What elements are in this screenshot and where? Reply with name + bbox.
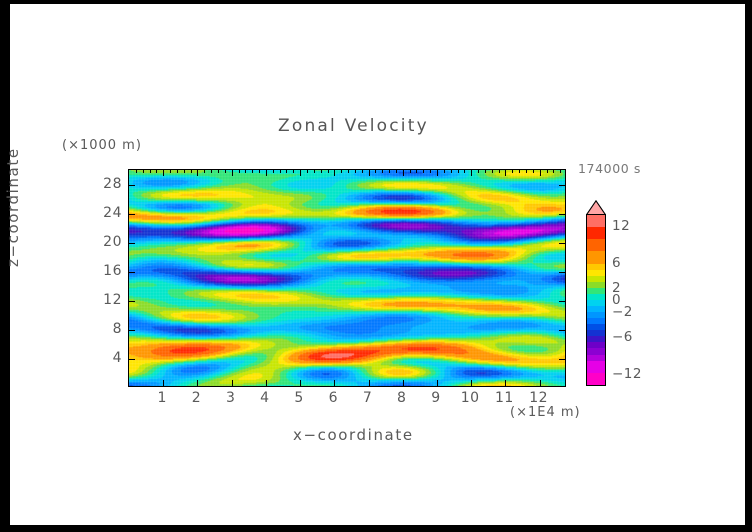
page-title: Zonal Velocity xyxy=(278,116,429,136)
x-tick-mark xyxy=(369,170,370,176)
x-minor-tick-mark xyxy=(280,170,281,173)
x-minor-tick-mark xyxy=(143,170,144,173)
image-border: Zonal Velocity (×1000 m) 174000 s 481216… xyxy=(0,0,752,532)
x-tick-mark xyxy=(300,380,301,386)
y-tick-mark xyxy=(129,214,135,215)
colorbar-tick-label: −12 xyxy=(612,366,642,382)
colorbar-band xyxy=(587,361,605,373)
x-tick-mark xyxy=(437,170,438,176)
colorbar-max-arrow-icon xyxy=(586,200,606,215)
y-tick-label: 20 xyxy=(103,234,122,250)
x-minor-tick-mark xyxy=(218,170,219,173)
colorbar-band xyxy=(587,251,605,263)
x-minor-tick-mark xyxy=(307,170,308,173)
x-tick-mark xyxy=(163,380,164,386)
x-minor-tick-mark xyxy=(225,170,226,173)
y-tick-mark xyxy=(129,272,135,273)
timestamp-label: 174000 s xyxy=(578,161,641,176)
x-minor-tick-mark xyxy=(170,170,171,173)
x-tick-mark xyxy=(232,170,233,176)
x-minor-tick-mark xyxy=(341,170,342,173)
x-tick-mark xyxy=(505,380,506,386)
x-tick-mark xyxy=(334,380,335,386)
x-minor-tick-mark xyxy=(396,170,397,173)
x-tick-label: 2 xyxy=(192,390,201,406)
x-tick-label: 9 xyxy=(431,390,440,406)
y-tick-label: 24 xyxy=(103,205,122,221)
colorbar-tick-label: 6 xyxy=(612,255,621,271)
x-tick-mark xyxy=(471,380,472,386)
y-tick-mark xyxy=(559,243,565,244)
y-tick-mark xyxy=(559,301,565,302)
x-minor-tick-mark xyxy=(512,170,513,173)
x-minor-tick-mark xyxy=(252,170,253,173)
x-tick-label: 11 xyxy=(495,390,514,406)
x-tick-label: 4 xyxy=(260,390,269,406)
x-axis-title: x−coordinate xyxy=(293,426,414,444)
colorbar-tick-label: −6 xyxy=(612,329,633,345)
x-minor-tick-mark xyxy=(204,170,205,173)
x-minor-tick-mark xyxy=(458,170,459,173)
x-minor-tick-mark xyxy=(499,170,500,173)
colorbar-tick-label: −2 xyxy=(612,304,633,320)
x-tick-mark xyxy=(197,380,198,386)
x-tick-mark xyxy=(540,170,541,176)
x-minor-tick-mark xyxy=(286,170,287,173)
x-tick-mark xyxy=(266,170,267,176)
y-tick-mark xyxy=(129,359,135,360)
x-tick-mark xyxy=(505,170,506,176)
x-minor-tick-mark xyxy=(478,170,479,173)
x-minor-tick-mark xyxy=(430,170,431,173)
colorbar xyxy=(586,214,606,386)
x-minor-tick-mark xyxy=(416,170,417,173)
y-tick-label: 8 xyxy=(113,321,122,337)
x-minor-tick-mark xyxy=(533,170,534,173)
x-tick-mark xyxy=(232,380,233,386)
x-minor-tick-mark xyxy=(273,170,274,173)
y-tick-mark xyxy=(559,214,565,215)
x-minor-tick-mark xyxy=(321,170,322,173)
y-axis-title: z−coordinate xyxy=(4,147,22,267)
x-minor-tick-mark xyxy=(348,170,349,173)
x-tick-mark xyxy=(197,170,198,176)
y-tick-mark xyxy=(559,359,565,360)
x-minor-tick-mark xyxy=(547,170,548,173)
x-minor-tick-mark xyxy=(451,170,452,173)
x-minor-tick-mark xyxy=(444,170,445,173)
y-tick-mark xyxy=(129,301,135,302)
z-axis-unit-label: (×1000 m) xyxy=(62,138,142,153)
x-tick-label: 6 xyxy=(329,390,338,406)
x-minor-tick-mark xyxy=(410,170,411,173)
x-tick-mark xyxy=(163,170,164,176)
y-tick-mark xyxy=(559,272,565,273)
y-tick-mark xyxy=(129,243,135,244)
x-minor-tick-mark xyxy=(382,170,383,173)
x-tick-mark xyxy=(334,170,335,176)
colorbar-band xyxy=(587,373,605,385)
x-tick-mark xyxy=(266,380,267,386)
x-minor-tick-mark xyxy=(362,170,363,173)
x-minor-tick-mark xyxy=(136,170,137,173)
x-minor-tick-mark xyxy=(177,170,178,173)
y-axis-tick-labels: 481216202428 xyxy=(70,169,122,387)
x-minor-tick-mark xyxy=(423,170,424,173)
y-tick-mark xyxy=(129,330,135,331)
x-minor-tick-mark xyxy=(156,170,157,173)
x-minor-tick-mark xyxy=(389,170,390,173)
colorbar-band xyxy=(587,215,605,227)
x-minor-tick-mark xyxy=(211,170,212,173)
y-tick-label: 16 xyxy=(103,263,122,279)
x-minor-tick-mark xyxy=(328,170,329,173)
y-tick-label: 12 xyxy=(103,292,122,308)
x-tick-mark xyxy=(403,380,404,386)
x-minor-tick-mark xyxy=(184,170,185,173)
x-minor-tick-mark xyxy=(464,170,465,173)
x-minor-tick-mark xyxy=(245,170,246,173)
x-minor-tick-mark xyxy=(526,170,527,173)
contour-plot-area xyxy=(128,169,566,387)
x-minor-tick-mark xyxy=(314,170,315,173)
y-tick-mark xyxy=(559,330,565,331)
x-tick-mark xyxy=(403,170,404,176)
x-minor-tick-mark xyxy=(485,170,486,173)
x-tick-label: 5 xyxy=(294,390,303,406)
x-minor-tick-mark xyxy=(239,170,240,173)
colorbar-band xyxy=(587,239,605,251)
x-minor-tick-mark xyxy=(375,170,376,173)
x-tick-mark xyxy=(540,380,541,386)
x-minor-tick-mark xyxy=(293,170,294,173)
x-tick-mark xyxy=(437,380,438,386)
velocity-field-heatmap xyxy=(129,170,565,386)
x-tick-label: 8 xyxy=(397,390,406,406)
figure-page: Zonal Velocity (×1000 m) 174000 s 481216… xyxy=(10,4,745,525)
x-minor-tick-mark xyxy=(355,170,356,173)
x-tick-label: 10 xyxy=(461,390,480,406)
colorbar-tick-label: 12 xyxy=(612,218,630,234)
x-tick-label: 12 xyxy=(529,390,548,406)
y-tick-label: 28 xyxy=(103,176,122,192)
x-axis-unit-label: (×1E4 m) xyxy=(510,405,581,420)
y-tick-mark xyxy=(559,185,565,186)
x-tick-mark xyxy=(369,380,370,386)
x-minor-tick-mark xyxy=(259,170,260,173)
x-minor-tick-mark xyxy=(553,170,554,173)
x-tick-label: 7 xyxy=(363,390,372,406)
x-tick-mark xyxy=(300,170,301,176)
x-minor-tick-mark xyxy=(191,170,192,173)
y-tick-mark xyxy=(129,185,135,186)
x-minor-tick-mark xyxy=(519,170,520,173)
x-tick-mark xyxy=(471,170,472,176)
x-tick-label: 3 xyxy=(226,390,235,406)
y-tick-label: 4 xyxy=(113,350,122,366)
x-minor-tick-mark xyxy=(492,170,493,173)
x-minor-tick-mark xyxy=(560,170,561,173)
x-minor-tick-mark xyxy=(150,170,151,173)
x-tick-label: 1 xyxy=(158,390,167,406)
colorbar-band xyxy=(587,227,605,239)
